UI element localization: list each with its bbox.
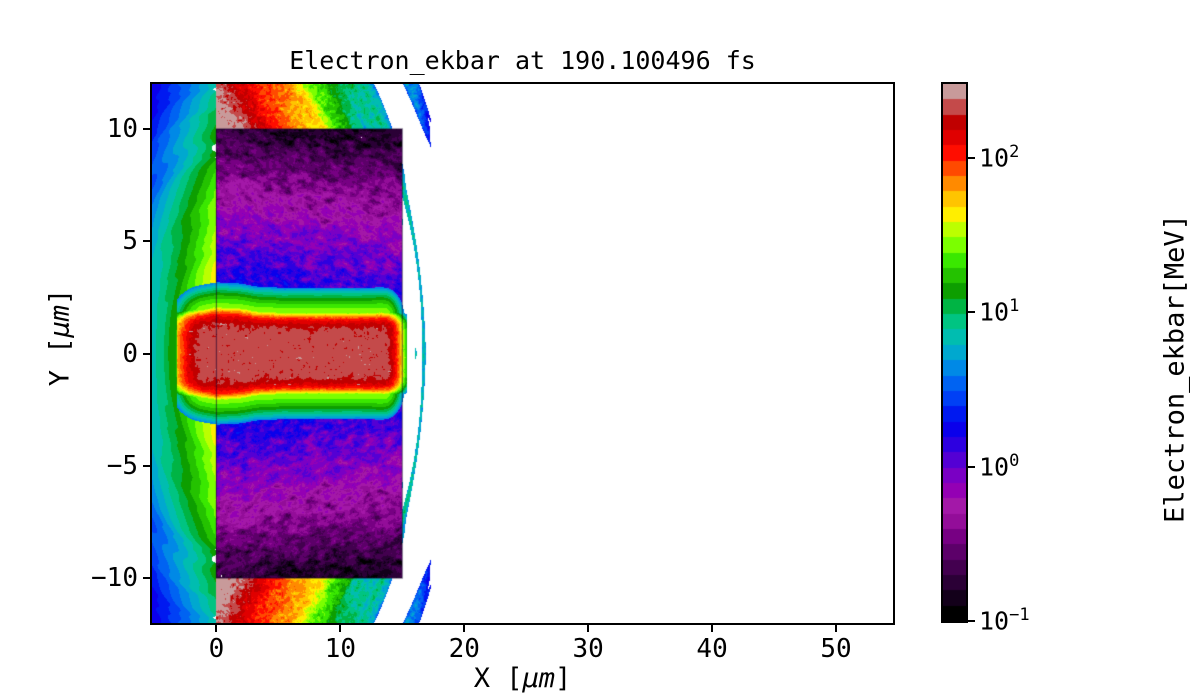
y-tick-mark <box>143 577 150 579</box>
plot-axes <box>150 82 895 625</box>
y-tick-mark <box>143 353 150 355</box>
y-axis-label-close: ] <box>45 289 76 305</box>
y-tick-label: −10 <box>91 563 138 593</box>
x-axis-label-text: X [ <box>474 663 523 694</box>
x-axis-label-close: ] <box>555 663 571 694</box>
colorbar-tick-mark <box>968 157 975 159</box>
x-tick-mark <box>587 625 589 632</box>
figure-canvas: Electron_ekbar at 190.100496 fs 01020304… <box>0 0 1200 700</box>
colorbar-tick-label: 10−1 <box>979 607 1030 636</box>
y-tick-label: 0 <box>122 339 138 369</box>
x-tick-label: 30 <box>573 634 604 664</box>
colorbar-tick-label: 100 <box>979 452 1019 481</box>
y-tick-label: −5 <box>107 451 138 481</box>
y-tick-mark <box>143 465 150 467</box>
x-tick-mark <box>711 625 713 632</box>
y-tick-label: 5 <box>122 226 138 256</box>
x-tick-label: 0 <box>209 634 225 664</box>
x-axis-label-unit: μm <box>523 663 556 694</box>
colorbar-tick-label: 102 <box>979 143 1019 172</box>
x-tick-mark <box>339 625 341 632</box>
x-tick-label: 20 <box>449 634 480 664</box>
x-tick-label: 10 <box>325 634 356 664</box>
colorbar-tick-label: 101 <box>979 298 1019 327</box>
y-axis-label: Y [μm] <box>45 238 76 438</box>
colorbar-tick-mark <box>968 311 975 313</box>
x-axis-label: X [μm] <box>150 663 895 694</box>
y-tick-label: 10 <box>107 114 138 144</box>
y-axis-label-unit: μm <box>45 305 76 338</box>
y-tick-mark <box>143 128 150 130</box>
x-tick-mark <box>463 625 465 632</box>
y-tick-mark <box>143 240 150 242</box>
x-tick-label: 40 <box>696 634 727 664</box>
colorbar-label: Electron_ekbar[MeV] <box>1160 159 1191 579</box>
colorbar-tick-mark <box>968 620 975 622</box>
colorbar-tick-mark <box>968 466 975 468</box>
x-tick-mark <box>215 625 217 632</box>
y-axis-label-text: Y [ <box>45 338 76 387</box>
colorbar <box>941 82 968 623</box>
page-title: Electron_ekbar at 190.100496 fs <box>150 46 895 75</box>
x-tick-label: 50 <box>820 634 851 664</box>
colorbar-gradient <box>943 84 966 621</box>
x-tick-mark <box>835 625 837 632</box>
electron-energy-heatmap <box>152 84 893 623</box>
